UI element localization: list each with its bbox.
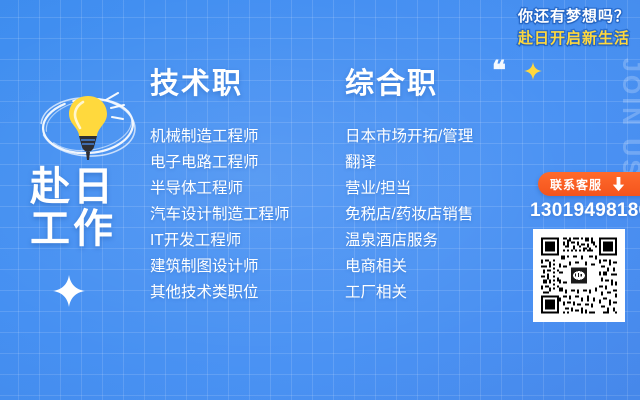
contact-support-button[interactable]: 联系客服 <box>538 172 640 196</box>
list-item[interactable]: IT开发工程师 <box>150 228 330 254</box>
arrow-down-icon <box>612 177 625 192</box>
sparkle-icon <box>52 274 86 308</box>
page-title-line-2: 工作 <box>30 208 160 250</box>
page-title: 赴日 工作 <box>30 166 160 250</box>
list-item[interactable]: 半导体工程师 <box>150 176 330 202</box>
slogan-line-1: 你还有梦想吗？ <box>518 6 630 28</box>
list-item[interactable]: 日本市场开拓/管理 <box>345 124 545 150</box>
page-title-line-1: 赴日 <box>30 166 160 208</box>
column-heading-tech: 技术职 <box>150 60 330 102</box>
list-item[interactable]: 免税店/药妆店销售 <box>345 202 545 228</box>
quote-mark-icon: ❝ <box>492 58 506 84</box>
qr-code[interactable] <box>533 229 625 322</box>
list-item[interactable]: 温泉酒店服务 <box>345 228 545 254</box>
job-list-tech: 机械制造工程师 电子电路工程师 半导体工程师 汽车设计制造工程师 IT开发工程师… <box>150 124 330 306</box>
contact-support-label: 联系客服 <box>550 176 602 193</box>
list-item[interactable]: 电子电路工程师 <box>150 150 330 176</box>
lightbulb-icon <box>28 74 148 174</box>
list-item[interactable]: 建筑制图设计师 <box>150 254 330 280</box>
list-item[interactable]: 机械制造工程师 <box>150 124 330 150</box>
poster-canvas: 赴日 工作 技术职 机械制造工程师 电子电路工程师 半导体工程师 汽车设计制造工… <box>0 0 640 400</box>
job-list-general: 日本市场开拓/管理 翻译 营业/担当 免税店/药妆店销售 温泉酒店服务 电商相关… <box>345 124 545 306</box>
list-item[interactable]: 其他技术类职位 <box>150 280 330 306</box>
column-heading-general: 综合职 <box>345 60 545 102</box>
slogan-block: 你还有梦想吗？ 赴日开启新生活 <box>518 6 630 50</box>
four-point-star-icon <box>524 62 542 80</box>
join-us-watermark: JOIN US <box>618 58 640 179</box>
job-category-tech: 技术职 机械制造工程师 电子电路工程师 半导体工程师 汽车设计制造工程师 IT开… <box>150 60 330 306</box>
list-item[interactable]: 营业/担当 <box>345 176 545 202</box>
job-category-general: 综合职 日本市场开拓/管理 翻译 营业/担当 免税店/药妆店销售 温泉酒店服务 … <box>345 60 545 306</box>
phone-number[interactable]: 13019498186 <box>530 200 640 222</box>
list-item[interactable]: 汽车设计制造工程师 <box>150 202 330 228</box>
list-item[interactable]: 工厂相关 <box>345 280 545 306</box>
list-item[interactable]: 翻译 <box>345 150 545 176</box>
slogan-line-2: 赴日开启新生活 <box>518 28 630 50</box>
list-item[interactable]: 电商相关 <box>345 254 545 280</box>
